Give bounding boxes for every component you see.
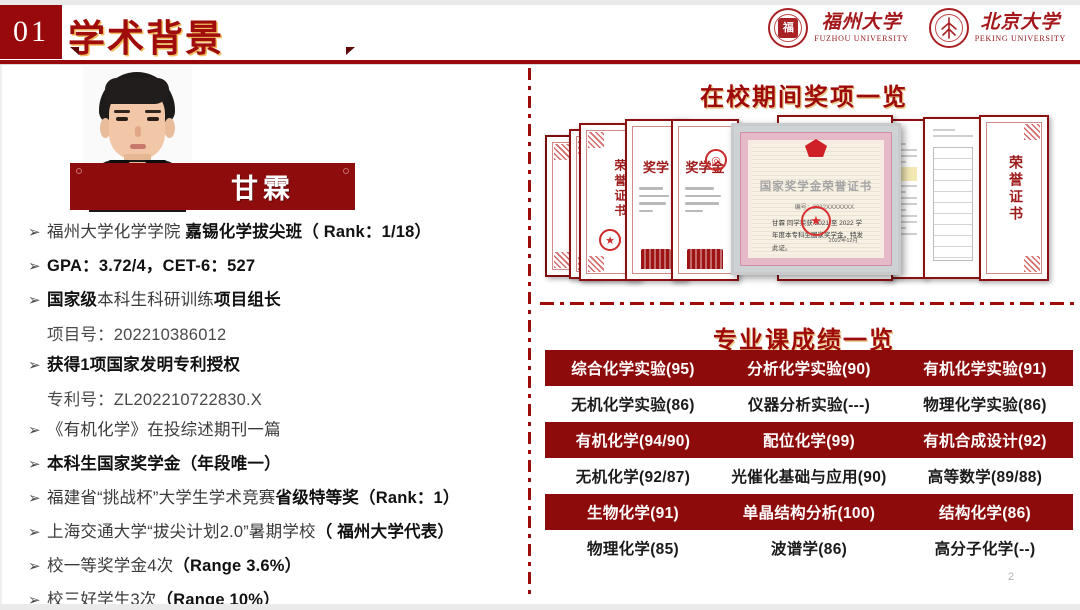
list-item: ➢福州大学化学学院 嘉锡化学拔尖班（ Rank：1/18） bbox=[22, 219, 522, 253]
bullet-arrow-icon: ➢ bbox=[22, 259, 47, 274]
table-cell-course: 分析化学实验(90) bbox=[721, 350, 897, 386]
bullet-arrow-icon: ➢ bbox=[22, 293, 47, 308]
table-cell-course: 有机化学(94/90) bbox=[545, 422, 721, 458]
bullet-arrow-icon: ➢ bbox=[22, 423, 47, 438]
table-cell-course: 高分子化学(--) bbox=[897, 530, 1073, 566]
peking-wordmark: 北京大学 PEKING UNIVERSITY bbox=[975, 13, 1066, 43]
featured-certificate[interactable]: 国家奖学金荣誉证书 编号：2022XXXXXXX 甘霖 同学荣获 2021 至 … bbox=[731, 123, 901, 275]
credential-text: 本科生国家奖学金（年段唯一） bbox=[47, 453, 281, 475]
grades-table: 综合化学实验(95)分析化学实验(90)有机化学实验(91)无机化学实验(86)… bbox=[545, 350, 1073, 566]
featured-cert-title: 国家奖学金荣誉证书 bbox=[748, 178, 884, 194]
page-number: 2 bbox=[1008, 571, 1014, 583]
awards-section-title: 在校期间奖项一览 bbox=[0, 77, 1080, 112]
featured-cert-date: 2022年12月 bbox=[829, 236, 858, 244]
certificate-honor-thumb[interactable]: 荣誉证书 bbox=[979, 115, 1049, 281]
credential-subline: ➢专利号：ZL202210722830.X bbox=[22, 386, 522, 417]
top-edge-strip bbox=[0, 0, 1080, 5]
certificates-gallery: ★ 荣誉证书 ★ 奖学 奖学金 ◎ bbox=[545, 113, 1075, 283]
credential-text: 专利号：ZL202210722830.X bbox=[47, 386, 262, 410]
table-cell-course: 单晶结构分析(100) bbox=[721, 494, 897, 530]
peking-university-seal-icon bbox=[929, 8, 969, 48]
page-title: 学术背景 bbox=[68, 8, 224, 62]
credential-text: 上海交通大学“拔尖计划2.0”暑期学校（ 福州大学代表） bbox=[47, 521, 454, 543]
name-banner: 甘霖 bbox=[70, 163, 355, 210]
list-item: ➢《有机化学》在投综述期刊一篇 bbox=[22, 417, 522, 451]
table-row: 物理化学(85)波谱学(86)高分子化学(--) bbox=[545, 530, 1073, 566]
table-row: 无机化学(92/87)光催化基础与应用(90)高等数学(89/88) bbox=[545, 458, 1073, 494]
table-row: 无机化学实验(86)仪器分析实验(---)物理化学实验(86) bbox=[545, 386, 1073, 422]
credential-text: GPA：3.72/4，CET-6：527 bbox=[47, 255, 255, 277]
table-row: 有机化学(94/90)配位化学(99)有机合成设计(92) bbox=[545, 422, 1073, 458]
list-item: ➢校一等奖学金4次（Range 3.6%） bbox=[22, 553, 522, 587]
table-cell-course: 无机化学实验(86) bbox=[545, 386, 721, 422]
list-item: ➢国家级本科生科研训练项目组长 bbox=[22, 287, 522, 321]
horizontal-dashed-divider bbox=[540, 302, 1078, 305]
table-cell-course: 高等数学(89/88) bbox=[897, 458, 1073, 494]
fuzhou-university-seal-icon: 福 bbox=[768, 8, 808, 48]
table-cell-course: 有机化学实验(91) bbox=[897, 350, 1073, 386]
table-cell-course: 物理化学(85) bbox=[545, 530, 721, 566]
credential-text: 获得1项国家发明专利授权 bbox=[47, 354, 240, 376]
cert-vertical-label: 荣誉证书 bbox=[1004, 155, 1024, 223]
credential-text: 校一等奖学金4次（Range 3.6%） bbox=[47, 555, 301, 577]
national-emblem-icon bbox=[805, 139, 827, 157]
seal-core-glyph: 福 bbox=[778, 18, 798, 38]
bullet-arrow-icon: ➢ bbox=[22, 559, 47, 574]
bottom-edge-strip bbox=[0, 604, 1080, 610]
table-cell-course: 配位化学(99) bbox=[721, 422, 897, 458]
fuzhou-wordmark: 福州大学 FUZHOU UNIVERSITY bbox=[814, 13, 908, 43]
credential-text: 国家级本科生科研训练项目组长 bbox=[47, 289, 281, 311]
table-row: 生物化学(91)单晶结构分析(100)结构化学(86) bbox=[545, 494, 1073, 530]
logo-fuzhou-university: 福 福州大学 FUZHOU UNIVERSITY bbox=[768, 8, 908, 48]
bullet-arrow-icon: ➢ bbox=[22, 457, 47, 472]
table-cell-course: 生物化学(91) bbox=[545, 494, 721, 530]
credential-text: 《有机化学》在投综述期刊一篇 bbox=[47, 419, 281, 441]
banner-tail-right bbox=[346, 47, 355, 55]
section-number-badge: 01 bbox=[0, 5, 62, 59]
table-cell-course: 无机化学(92/87) bbox=[545, 458, 721, 494]
peking-name-en: PEKING UNIVERSITY bbox=[975, 34, 1066, 43]
credential-text: 福州大学化学学院 嘉锡化学拔尖班（ Rank：1/18） bbox=[47, 221, 431, 243]
table-cell-course: 物理化学实验(86) bbox=[897, 386, 1073, 422]
certificate-document-thumb[interactable] bbox=[923, 117, 983, 279]
list-item: ➢上海交通大学“拔尖计划2.0”暑期学校（ 福州大学代表） bbox=[22, 519, 522, 553]
fuzhou-name-cn: 福州大学 bbox=[822, 13, 902, 33]
bullet-arrow-icon: ➢ bbox=[22, 525, 47, 540]
profile-name: 甘霖 bbox=[70, 163, 355, 210]
peking-name-cn: 北京大学 bbox=[980, 13, 1060, 33]
header-rule-thin bbox=[0, 64, 1080, 65]
logo-peking-university: 北京大学 PEKING UNIVERSITY bbox=[929, 8, 1066, 48]
credential-text: 福建省“挑战杯”大学生学术竞赛省级特等奖（Rank：1） bbox=[47, 487, 460, 509]
credentials-list: ➢福州大学化学学院 嘉锡化学拔尖班（ Rank：1/18）➢GPA：3.72/4… bbox=[22, 219, 522, 610]
table-cell-course: 光催化基础与应用(90) bbox=[721, 458, 897, 494]
table-cell-course: 仪器分析实验(---) bbox=[721, 386, 897, 422]
slide-root: 01 学术背景 福 福州大学 FUZHOU UNIVERSITY 北京大学 PE… bbox=[0, 0, 1080, 610]
table-cell-course: 结构化学(86) bbox=[897, 494, 1073, 530]
official-seal-icon: ★ bbox=[801, 206, 831, 236]
university-logos: 福 福州大学 FUZHOU UNIVERSITY 北京大学 PEKING UNI… bbox=[768, 8, 1066, 48]
list-item: ➢GPA：3.72/4，CET-6：527 bbox=[22, 253, 522, 287]
bullet-arrow-icon: ➢ bbox=[22, 358, 47, 373]
table-cell-course: 综合化学实验(95) bbox=[545, 350, 721, 386]
list-item: ➢福建省“挑战杯”大学生学术竞赛省级特等奖（Rank：1） bbox=[22, 485, 522, 519]
list-item: ➢获得1项国家发明专利授权 bbox=[22, 352, 522, 386]
cert-title: 奖学 bbox=[643, 157, 669, 176]
bullet-arrow-icon: ➢ bbox=[22, 225, 47, 240]
bullet-arrow-icon: ➢ bbox=[22, 491, 47, 506]
table-cell-course: 有机合成设计(92) bbox=[897, 422, 1073, 458]
table-cell-course: 波谱学(86) bbox=[721, 530, 897, 566]
table-row: 综合化学实验(95)分析化学实验(90)有机化学实验(91) bbox=[545, 350, 1073, 386]
list-item: ➢本科生国家奖学金（年段唯一） bbox=[22, 451, 522, 485]
fuzhou-name-en: FUZHOU UNIVERSITY bbox=[814, 34, 908, 43]
certificate-thumb[interactable]: 奖学金 ◎ bbox=[671, 119, 739, 281]
